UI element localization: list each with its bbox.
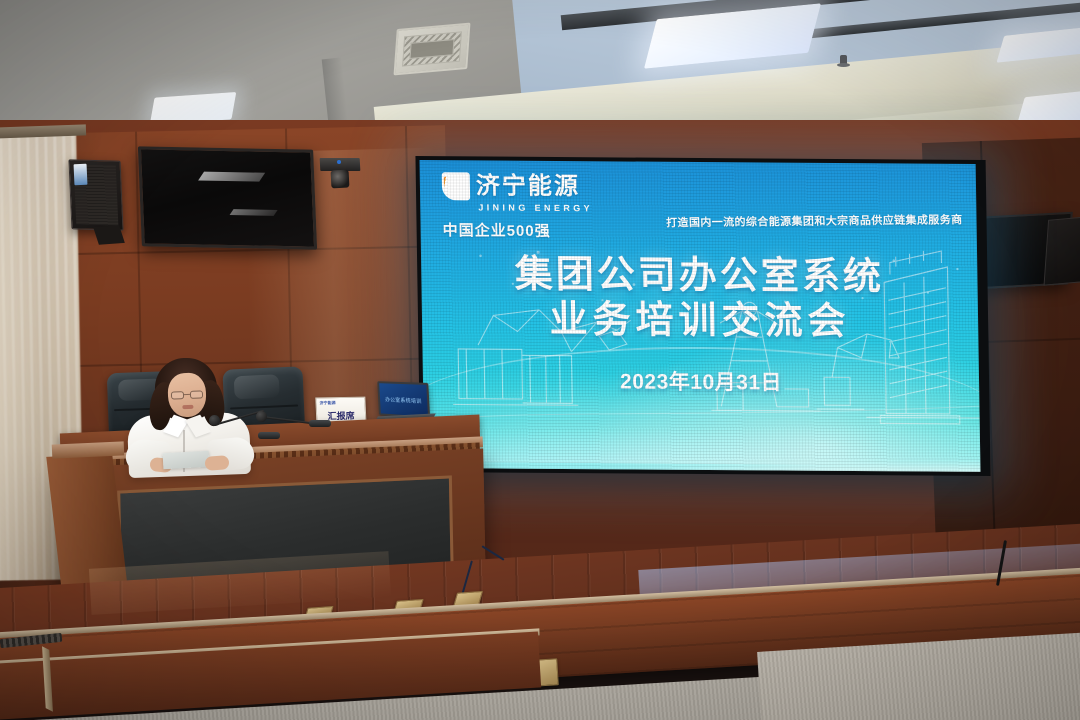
display-reflection [198,171,265,181]
display-reflection [229,209,277,216]
speaker-badge [74,164,88,186]
eyeglasses-icon [190,390,203,398]
name-card-header: 济宁能源 [319,400,335,406]
logo-company-name-cn: 济宁能源 [476,174,580,199]
led-title: 集团公司办公室系统 业务培训交流会 [421,252,979,346]
microphone-head-icon [256,411,267,422]
led-title-line1: 集团公司办公室系统 [421,252,978,301]
camera-lens-icon [331,170,350,189]
eyeglasses-icon [171,391,184,399]
presenter-hand [205,455,230,471]
logo-company-name-en: JINING ENERGY [478,202,593,213]
hvac-diffuser-icon [394,23,471,76]
microphone-base [309,420,331,427]
presenter-document [163,451,210,469]
curtain-daylight-glow [0,128,48,581]
fire-sprinkler-icon [840,55,847,66]
speaker-mount-bracket [93,225,125,244]
led-slogan: 打造国内一流的综合能源集团和大宗商品供应链集成服务商 [662,211,962,230]
led-date: 2023年10月31日 [423,364,980,398]
led-logo-block: 济宁能源 JINING ENERGY 中国企业500强 [442,172,594,241]
led-title-line2: 业务培训交流会 [422,297,979,346]
jining-energy-logo-icon [442,172,470,200]
camera-status-led-icon [337,160,341,164]
microphone-base [258,432,280,439]
wall-display-left[interactable] [138,146,317,249]
logo-award-text: 中国企业500强 [442,219,593,241]
microphone-head-icon [209,415,220,426]
laptop-screen-text: 办公室系统培训 [380,396,428,406]
conference-room-photo: 济宁能源 JINING ENERGY 中国企业500强 打造国内一流的综合能源集… [0,0,1080,720]
wall-speaker-right [1044,216,1080,285]
led-video-wall[interactable]: 济宁能源 JINING ENERGY 中国企业500强 打造国内一流的综合能源集… [415,156,990,476]
led-screen-surface: 济宁能源 JINING ENERGY 中国企业500强 打造国内一流的综合能源集… [420,160,981,472]
